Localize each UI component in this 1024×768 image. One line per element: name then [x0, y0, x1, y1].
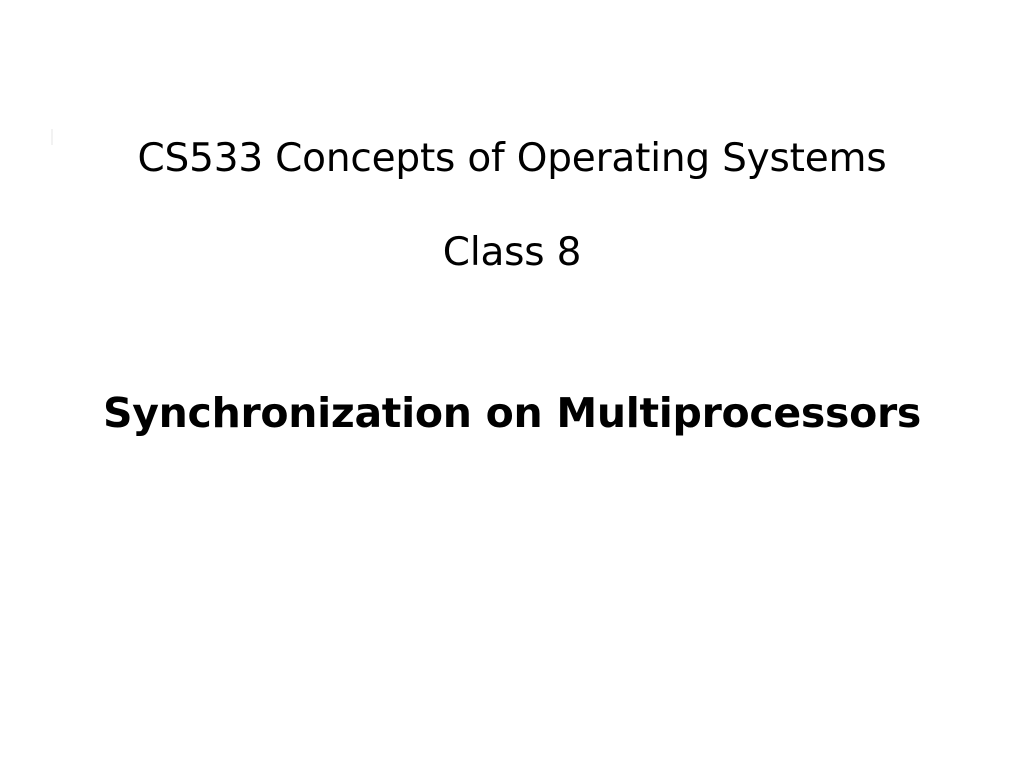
course-title: CS533 Concepts of Operating Systems [0, 139, 1024, 178]
subject-heading: Synchronization on Multiprocessors [0, 393, 1024, 434]
slide-subject-block: Synchronization on Multiprocessors [0, 393, 1024, 434]
slide-title-block: CS533 Concepts of Operating Systems Clas… [0, 139, 1024, 272]
class-number: Class 8 [0, 233, 1024, 272]
presentation-slide: CS533 Concepts of Operating Systems Clas… [0, 0, 1024, 768]
slide-body-empty-area [0, 470, 1024, 768]
